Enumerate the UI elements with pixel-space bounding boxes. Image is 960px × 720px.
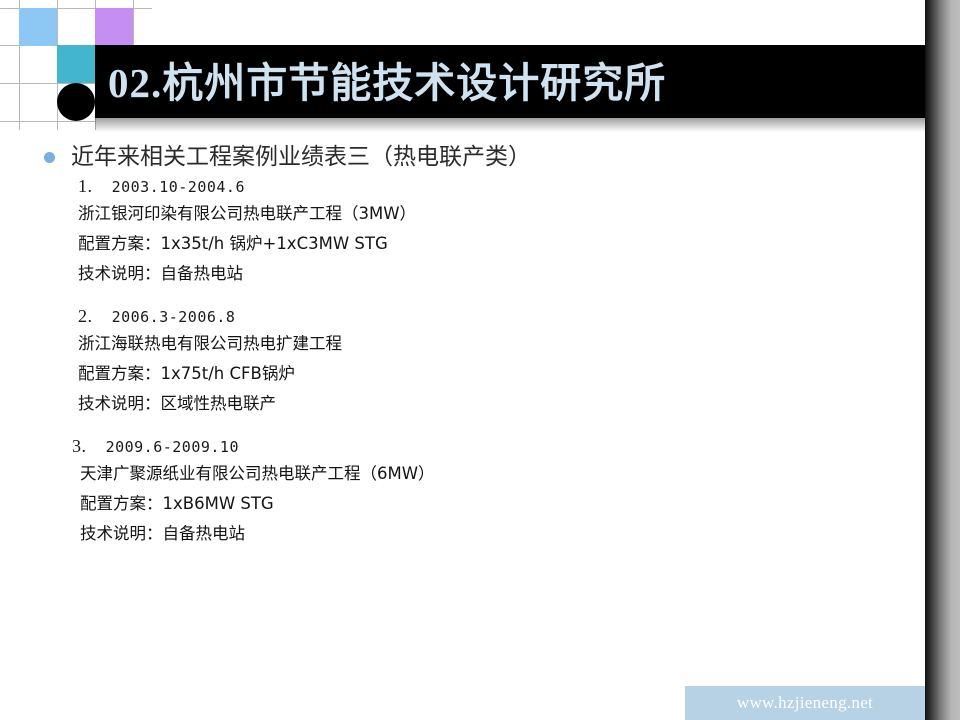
entry-project: 浙江银河印染有限公司热电联产工程（3MW）	[78, 199, 416, 229]
entry-project: 浙江海联热电有限公司热电扩建工程	[78, 329, 342, 359]
list-item: 3. 2009.6-2009.10 天津广聚源纸业有限公司热电联产工程（6MW）…	[72, 434, 435, 549]
presentation-slide: 02.杭州市节能技术设计研究所 近年来相关工程案例业绩表三（热电联产类） 1. …	[0, 0, 960, 720]
entry-date-line: 2. 2006.3-2006.8	[78, 304, 342, 329]
decor-grid-line-vertical	[133, 0, 134, 46]
entry-date: 2006.3-2006.8	[112, 308, 236, 326]
entry-project: 天津广聚源纸业有限公司热电联产工程（6MW）	[72, 459, 435, 489]
entry-note: 技术说明：自备热电站	[78, 259, 416, 289]
decor-circle-black	[57, 83, 95, 121]
entry-date-line: 1. 2003.10-2004.6	[78, 174, 416, 199]
bullet-heading-label: 近年来相关工程案例业绩表三（热电联产类）	[71, 142, 531, 172]
entry-date: 2009.6-2009.10	[106, 438, 239, 456]
footer-url: www.hzjieneng.net	[685, 686, 925, 720]
slide-right-edge-shadow	[925, 0, 960, 720]
decor-square-teal	[57, 45, 95, 83]
entry-number: 2.	[78, 306, 93, 326]
decor-grid-line-horizontal	[0, 121, 95, 122]
footer-watermark-bar: www.hzjieneng.net	[685, 686, 925, 720]
entry-note: 技术说明：区域性热电联产	[78, 389, 342, 419]
entry-note-label: 技术说明：自备热电站	[80, 524, 245, 543]
entry-config: 配置方案：1xB6MW STG	[72, 489, 435, 519]
entry-date-line: 3. 2009.6-2009.10	[72, 434, 435, 459]
entry-number: 3.	[72, 436, 87, 456]
page-title: 02.杭州市节能技术设计研究所	[108, 50, 918, 116]
entry-note: 技术说明：自备热电站	[72, 519, 435, 549]
entry-config: 配置方案：1x35t/h 锅炉+1xC3MW STG	[78, 229, 416, 259]
title-bar-shadow	[95, 118, 925, 132]
entry-config: 配置方案：1x75t/h CFB锅炉	[78, 359, 342, 389]
entry-date: 2003.10-2004.6	[112, 178, 245, 196]
entry-number: 1.	[78, 176, 93, 196]
decor-square-light-blue	[19, 8, 57, 46]
bullet-heading: 近年来相关工程案例业绩表三（热电联产类）	[44, 142, 531, 172]
slide-body: 近年来相关工程案例业绩表三（热电联产类） 1. 2003.10-2004.6 浙…	[0, 132, 925, 672]
list-item: 1. 2003.10-2004.6 浙江银河印染有限公司热电联产工程（3MW） …	[78, 174, 416, 289]
entry-config-label: 配置方案：1xB6MW STG	[80, 494, 274, 513]
bullet-dot-icon	[44, 152, 55, 163]
entry-project-label: 天津广聚源纸业有限公司热电联产工程（6MW）	[80, 464, 435, 483]
list-item: 2. 2006.3-2006.8 浙江海联热电有限公司热电扩建工程 配置方案：1…	[78, 304, 342, 419]
decor-square-purple	[95, 8, 133, 46]
